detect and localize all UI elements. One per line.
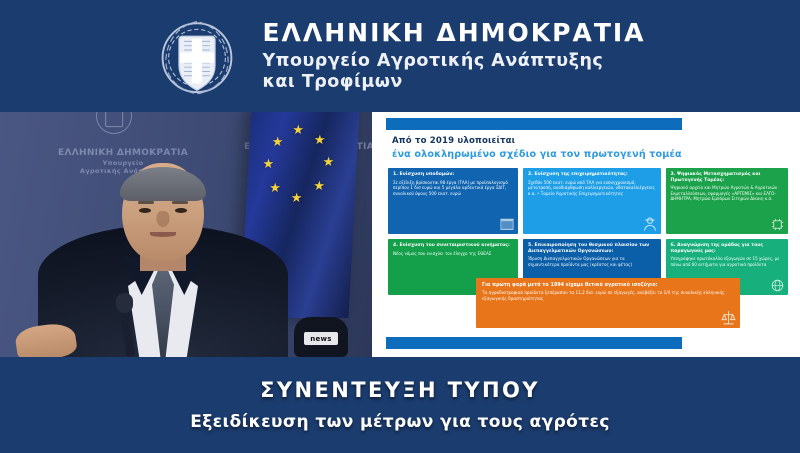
digital-chip-icon <box>770 217 785 232</box>
greek-coat-of-arms-icon <box>154 13 240 99</box>
slide-card-1: 1. Ενίσχυση υποδομών: Σε εξέλιξη βρίσκον… <box>388 168 518 234</box>
slide-bottom-accent-bar <box>386 337 682 349</box>
lower-third-caption: ΣΥΝΕΝΤΕΥΞΗ ΤΥΠΟΥ Εξειδίκευση των μέτρων … <box>0 357 800 453</box>
farmer-worker-icon <box>642 216 658 232</box>
broadcast-stage: ΕΛΛΗΝΙΚΗ ΔΗΜΟΚΡΑΤΙΑ Υπουργείο Αγροτικής … <box>0 112 800 357</box>
slide-card-2: 2. Ενίσχυση της επιχειρηματικότητας: Σχε… <box>523 168 661 234</box>
globe-export-icon <box>770 278 785 293</box>
caption-title: ΣΥΝΕΝΤΕΥΞΗ ΤΥΠΟΥ <box>260 378 540 402</box>
hair <box>120 167 206 201</box>
slide-card-row-1: 1. Ενίσχυση υποδομών: Σε εξέλιξη βρίσκον… <box>388 168 788 234</box>
microphone-head <box>116 293 133 313</box>
mouth <box>150 232 176 237</box>
channel-header-banner: ΕΛΛΗΝΙΚΗ ΔΗΜΟΚΡΑΤΙΑ Υπουργείο Αγροτικής … <box>0 0 800 112</box>
ministry-title-line2: και Τροφίμων <box>262 72 645 93</box>
dam-infrastructure-icon <box>499 216 515 232</box>
presentation-slide: Από το 2019 υλοποιείται ένα ολοκληρωμένο… <box>372 112 800 357</box>
ministry-title-line1: Υπουργείο Αγροτικής Ανάπτυξης <box>262 51 645 72</box>
slide-heading-line1: Από το 2019 υλοποιείται <box>392 136 782 146</box>
broadcast-screen: ΕΛΛΗΝΙΚΗ ΔΗΜΟΚΡΑΤΙΑ Υπουργείο Αγροτικής … <box>0 0 800 453</box>
microphone-station-label: news <box>304 332 338 345</box>
slide-card-3: 3. Ψηφιακός Μετασχηματισμός και Πρωτογεν… <box>666 168 789 234</box>
ministry-title-block: ΕΛΛΗΝΙΚΗ ΔΗΜΟΚΡΑΤΙΑ Υπουργείο Αγροτικής … <box>262 19 645 94</box>
slide-top-accent-bar <box>386 118 682 130</box>
caption-subtitle: Εξειδίκευση των μέτρων για τους αγρότες <box>190 412 610 432</box>
video-feed[interactable]: ΕΛΛΗΝΙΚΗ ΔΗΜΟΚΡΑΤΙΑ Υπουργείο Αγροτικής … <box>0 112 372 357</box>
slide-heading: Από το 2019 υλοποιείται ένα ολοκληρωμένο… <box>392 136 782 160</box>
speaker-figure <box>38 145 288 357</box>
slide-heading-line2: ένα ολοκληρωμένο σχέδιο για τον πρωτογεν… <box>392 149 782 160</box>
slide-highlight-card: Για πρώτη φορά μετά το 1994 είχαμε θετικ… <box>476 278 740 328</box>
republic-title: ΕΛΛΗΝΙΚΗ ΔΗΜΟΚΡΑΤΙΑ <box>262 19 645 47</box>
nose <box>157 211 170 227</box>
balance-scale-icon <box>720 309 737 326</box>
